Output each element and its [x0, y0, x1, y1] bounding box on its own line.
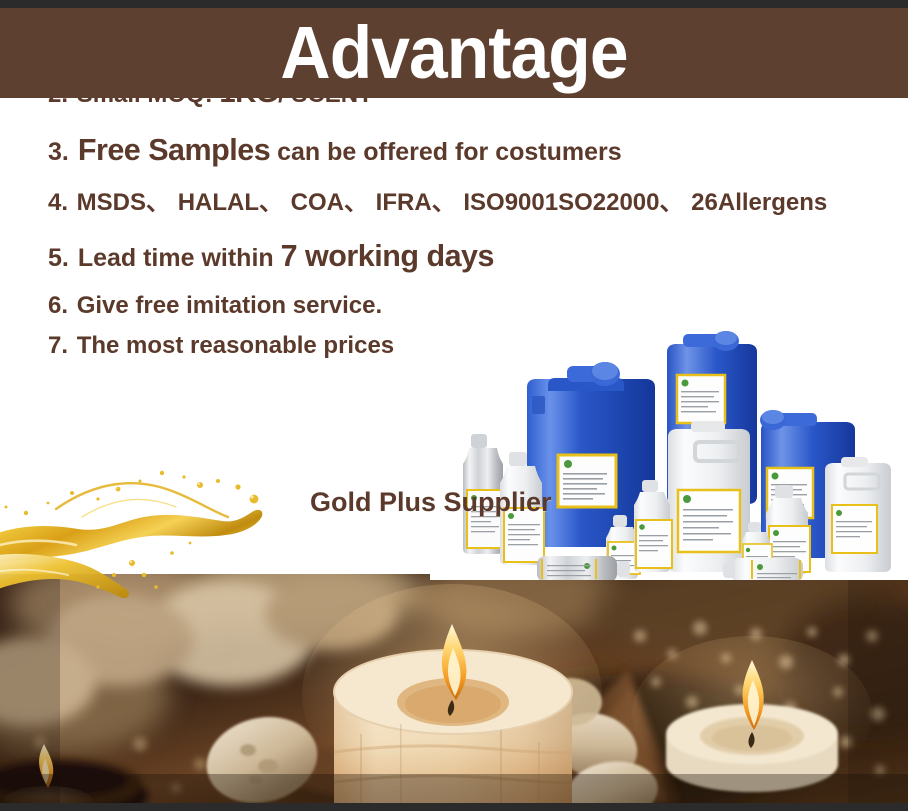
list-item: 3. Free Samples can be offered for costu…: [48, 135, 848, 166]
token-separator: 、: [660, 189, 685, 216]
token-separator: 、: [344, 189, 369, 216]
list-item-highlight: Free Samples: [78, 133, 270, 167]
list-item-number: 7.: [48, 332, 68, 359]
list-item: 7. The most reasonable prices: [48, 334, 848, 358]
list-item-lead: Lead time within: [78, 244, 274, 272]
candle-scene-photo: [0, 574, 908, 803]
list-item-highlight: 7 working days: [281, 239, 494, 273]
list-item-lead: The most reasonable prices: [77, 332, 394, 359]
list-item-number: 4.: [48, 189, 68, 216]
list-item-lead: Give free imitation service.: [77, 292, 382, 319]
certification-token: 26Allergens: [685, 189, 828, 216]
certification-token: MSDS: [70, 189, 146, 216]
list-item: 4. MSDS、 HALAL、 COA、 IFRA、 ISO9001SO2200…: [48, 191, 848, 215]
token-separator: 、: [146, 189, 171, 216]
bottom-edge-strip: [0, 803, 908, 811]
certification-token-list: MSDS、 HALAL、 COA、 IFRA、 ISO9001SO22000、 …: [70, 189, 827, 216]
pillar-candle: [302, 584, 602, 803]
certification-token: ISO9001SO22000: [457, 189, 660, 216]
token-separator: 、: [432, 189, 457, 216]
top-edge-strip: [0, 0, 908, 8]
list-item-number: 5.: [48, 244, 69, 272]
certification-token: COA: [284, 189, 344, 216]
list-item-tail: can be offered for costumers: [277, 138, 622, 166]
photo-top-notch: [430, 574, 908, 580]
list-item: 5. Lead time within 7 working days: [48, 241, 848, 272]
list-item-number: 3.: [48, 138, 69, 166]
page-title: Advantage: [269, 16, 638, 90]
token-separator: 、: [259, 189, 284, 216]
list-item-number: 6.: [48, 292, 68, 319]
page-title-text: Advantage: [280, 16, 627, 90]
certification-token: HALAL: [171, 189, 259, 216]
advantage-banner-page: Advantage 1. Over14+ years manufacturing…: [0, 0, 908, 811]
gold-plus-supplier-tagline: Gold Plus Supplier: [310, 489, 552, 516]
tealight-candle-right: [632, 636, 872, 792]
header-banner: Advantage: [0, 8, 908, 98]
list-item: 6. Give free imitation service.: [48, 294, 848, 318]
certification-token: IFRA: [369, 189, 432, 216]
